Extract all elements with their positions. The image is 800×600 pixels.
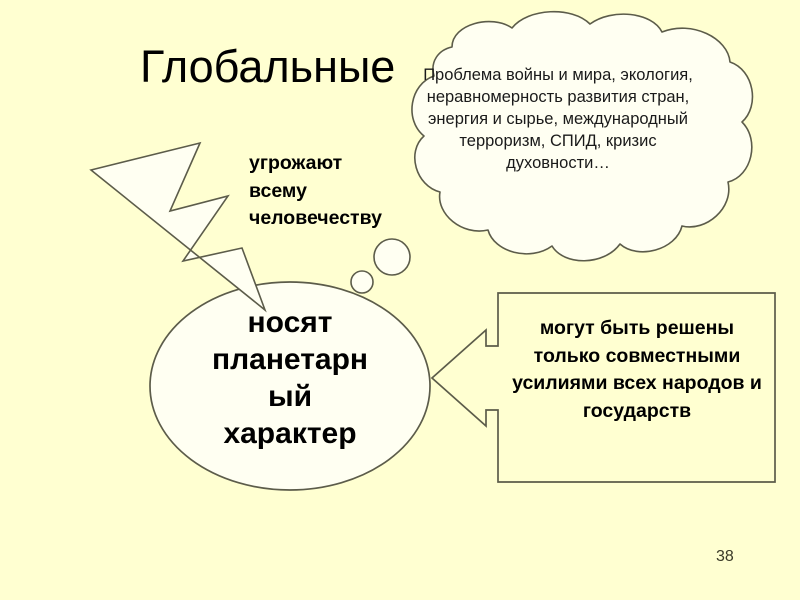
- callout-box-text: могут быть решены только совместными уси…: [506, 315, 768, 426]
- thought-tail-circle-small: [334, 291, 346, 303]
- thought-tail-circle-large: [374, 239, 410, 275]
- lightning-bolt: [91, 143, 265, 310]
- page-number: 38: [716, 548, 756, 567]
- thought-bubble-text: Проблема войны и мира, экология, неравно…: [414, 65, 702, 175]
- slide-canvas: Глобальные Проблема войны и мира, эколог…: [0, 0, 800, 600]
- lightning-bolt-label: угрожают всему человечеству: [249, 150, 414, 233]
- thought-tail-circle-medium: [351, 271, 373, 293]
- ellipse-label: носят планетарн ый характер: [180, 305, 400, 453]
